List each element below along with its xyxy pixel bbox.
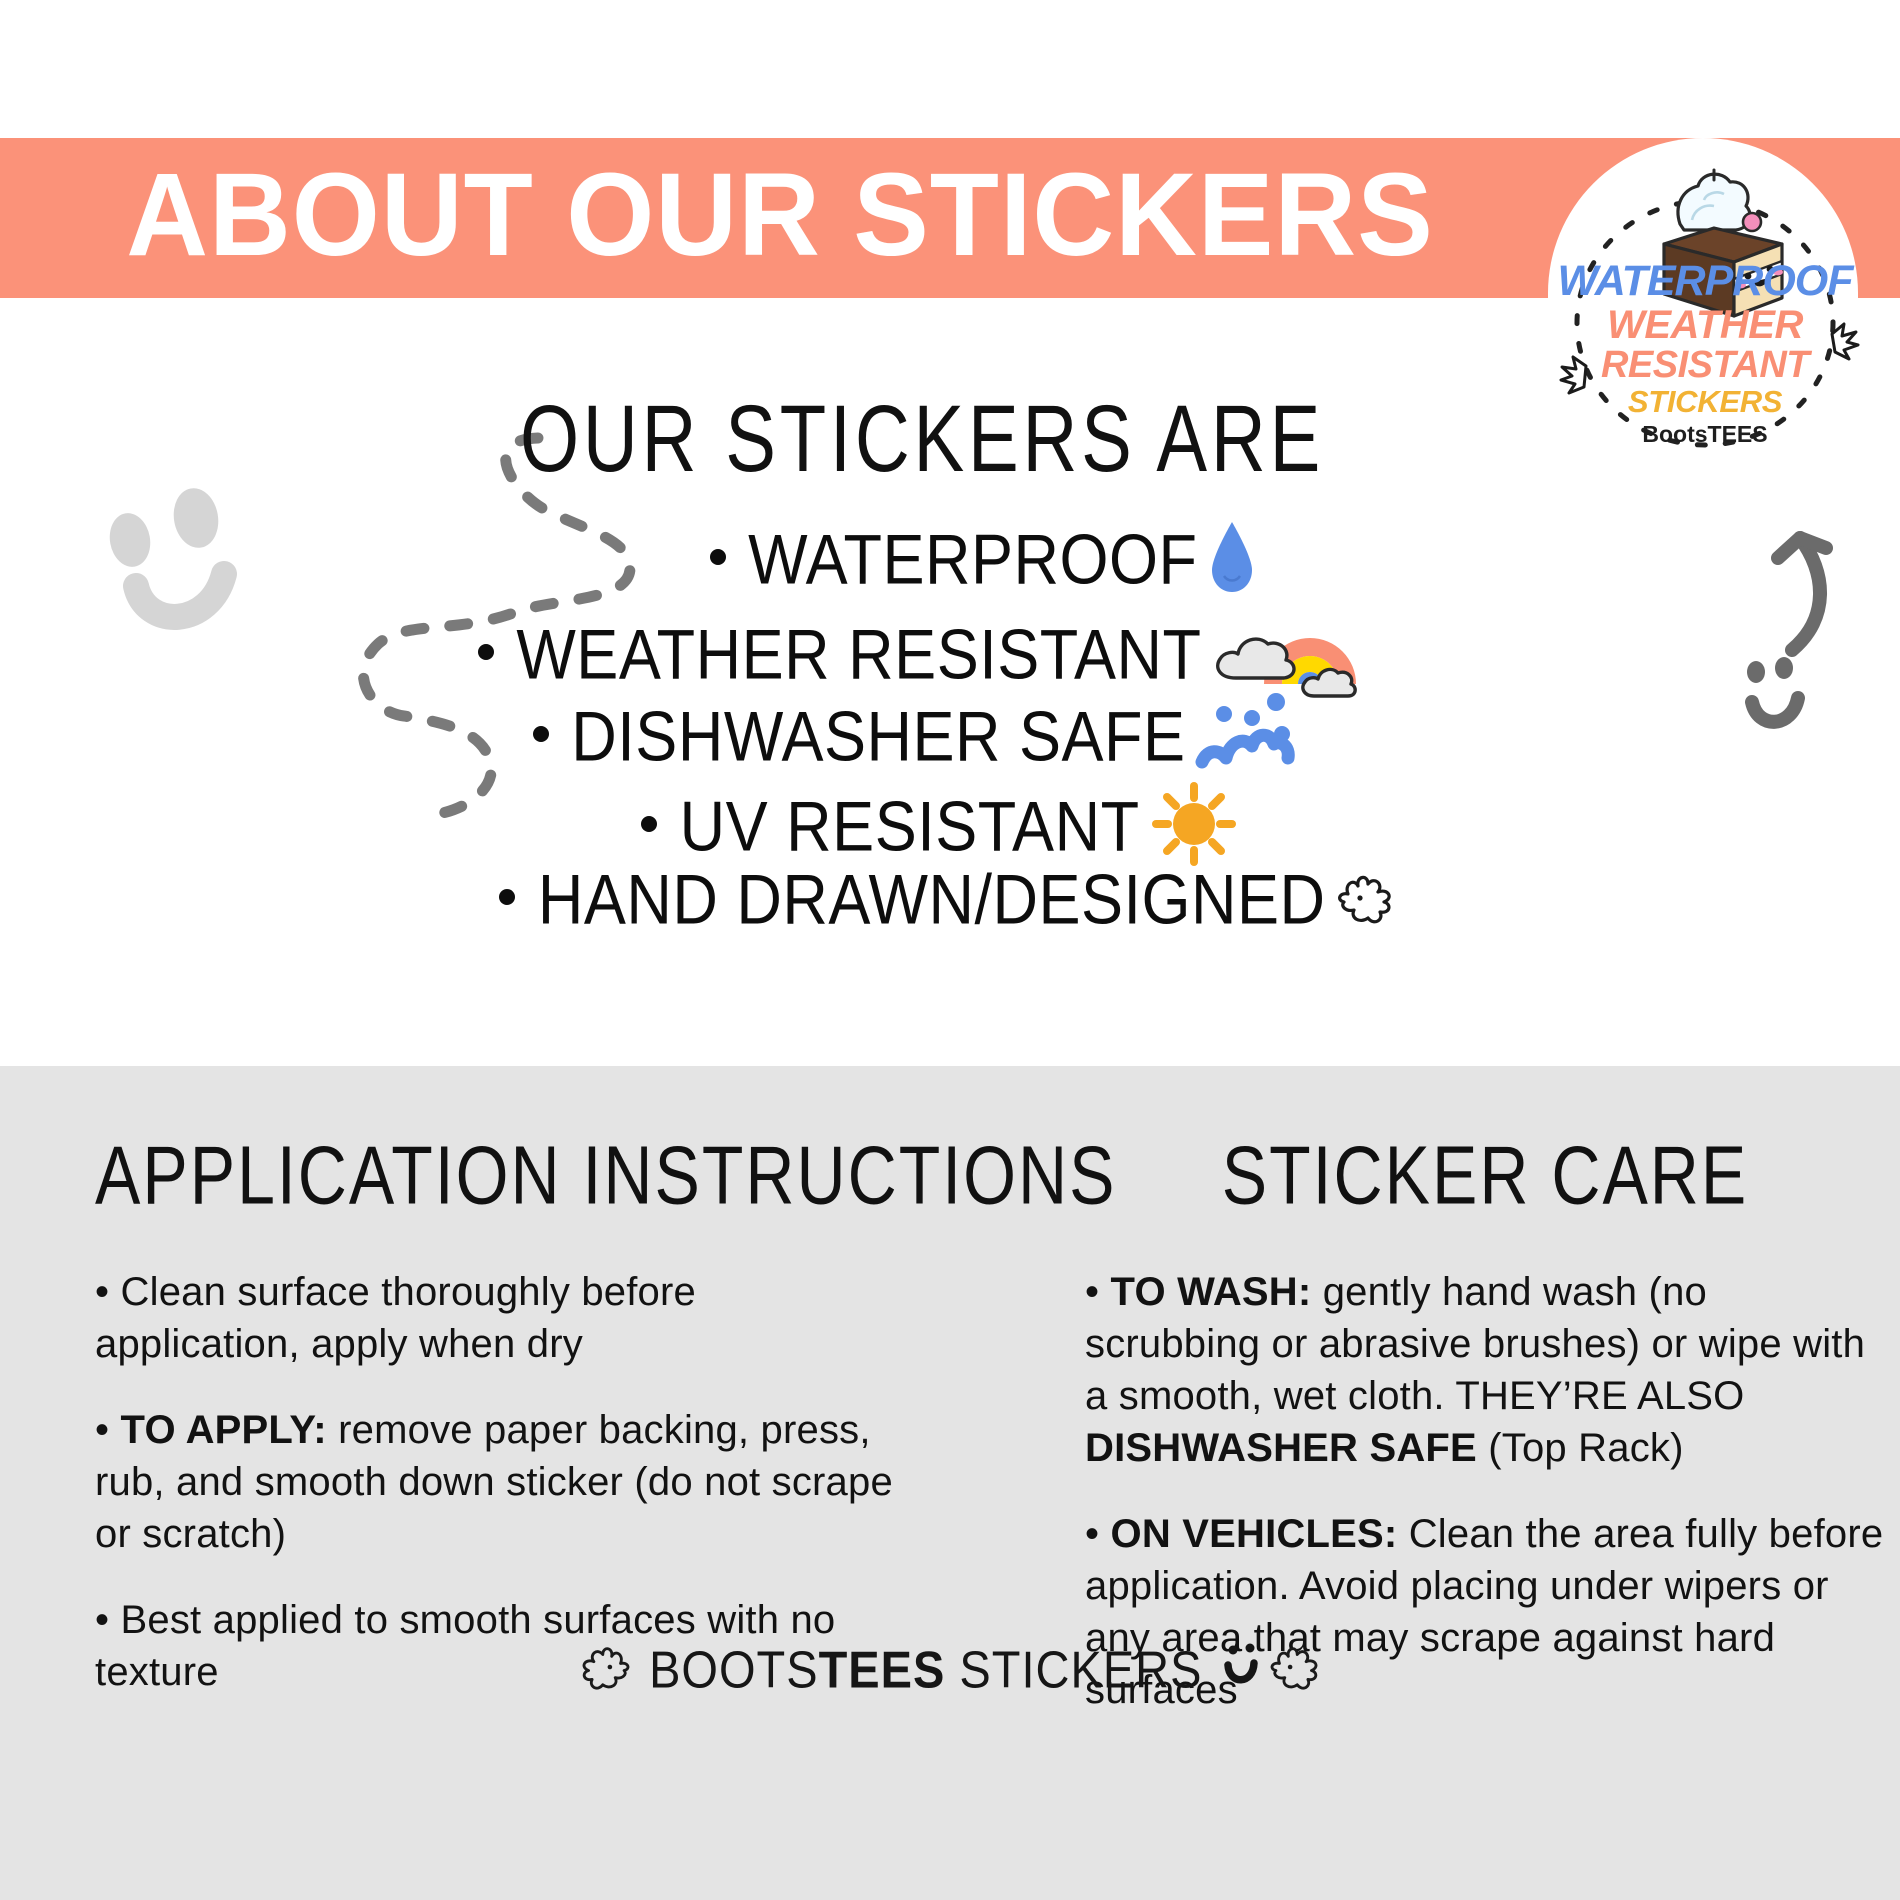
application-bullet-2: • TO APPLY: remove paper backing, press,… <box>95 1404 905 1560</box>
care-bullet-1: • TO WASH: gently hand wash (no scrubbin… <box>1085 1266 1885 1474</box>
badge-line-brand: BootsTEES <box>1540 423 1870 446</box>
bullet-dot <box>641 816 657 832</box>
feature-label: HAND DRAWN/DESIGNED <box>538 860 1326 941</box>
water-drop-icon <box>1206 520 1258 599</box>
badge-line-stickers: STICKERS <box>1540 386 1870 417</box>
list-item: UV RESISTANT <box>0 778 1430 864</box>
hand-icon <box>1267 1638 1331 1701</box>
waterproof-badge: WATERPROOF WEATHER RESISTANT STICKERS Bo… <box>1540 138 1870 488</box>
feature-label: WATERPROOF <box>748 519 1197 600</box>
application-column: APPLICATION INSTRUCTIONS • Clean surface… <box>95 1128 905 1698</box>
bullet-dot <box>533 726 549 742</box>
infographic-page: ABOUT OUR STICKERS <box>0 0 1900 1900</box>
list-item: WATERPROOF <box>0 520 1430 606</box>
hand-icon <box>569 1638 633 1701</box>
hand-icon <box>1334 866 1406 935</box>
feature-label: WEATHER RESISTANT <box>516 614 1201 695</box>
water-splash-icon <box>1194 692 1312 781</box>
bullet-dot <box>710 549 726 565</box>
application-bullet-2-lead: TO APPLY: <box>121 1408 327 1452</box>
footer-brand: BOOTSTEES STICKERS <box>649 1639 1202 1700</box>
list-item: DISHWASHER SAFE <box>0 692 1430 778</box>
application-heading: APPLICATION INSTRUCTIONS <box>95 1128 905 1223</box>
badge-line-waterproof: WATERPROOF <box>1540 260 1870 303</box>
footer-brand-rest: STICKERS <box>945 1640 1202 1698</box>
care-bullet-1-emph: DISHWASHER SAFE <box>1085 1426 1477 1470</box>
care-heading: STICKER CARE <box>1085 1128 1885 1223</box>
care-bullet-2-lead: ON VEHICLES: <box>1111 1512 1398 1556</box>
smiley-face-small-icon <box>1736 656 1836 746</box>
instructions-section: APPLICATION INSTRUCTIONS • Clean surface… <box>0 1066 1900 1900</box>
feature-label: UV RESISTANT <box>680 786 1140 867</box>
application-bullet-1: • Clean surface thoroughly before applic… <box>95 1266 905 1370</box>
badge-line-weather: WEATHER <box>1540 305 1870 345</box>
bullet-dot <box>499 889 515 905</box>
features-heading: OUR STICKERS ARE <box>520 385 1324 494</box>
care-column: STICKER CARE • TO WASH: gently hand wash… <box>1085 1128 1885 1716</box>
smiley-face-icon <box>1219 1641 1263 1698</box>
rainbow-cloud-icon <box>1210 606 1358 703</box>
footer-brand-light: BOOTS <box>649 1640 819 1698</box>
footer-logo: BOOTSTEES STICKERS <box>0 1638 1900 1701</box>
list-item: HAND DRAWN/DESIGNED <box>0 864 1430 950</box>
curved-arrow-up-icon <box>1742 510 1862 660</box>
badge-text-block: WATERPROOF WEATHER RESISTANT STICKERS Bo… <box>1540 260 1870 446</box>
page-title: ABOUT OUR STICKERS <box>31 140 1529 290</box>
feature-label: DISHWASHER SAFE <box>571 696 1185 777</box>
features-list: WATERPROOF WEATHER RESISTANT <box>0 520 1430 950</box>
bullet-dot <box>478 644 494 660</box>
list-item: WEATHER RESISTANT <box>0 606 1430 692</box>
care-bullet-1-tail: (Top Rack) <box>1477 1426 1684 1470</box>
footer-brand-bold: TEES <box>819 1640 946 1698</box>
care-bullet-1-lead: TO WASH: <box>1111 1270 1312 1314</box>
badge-line-resistant: RESISTANT <box>1540 346 1870 384</box>
